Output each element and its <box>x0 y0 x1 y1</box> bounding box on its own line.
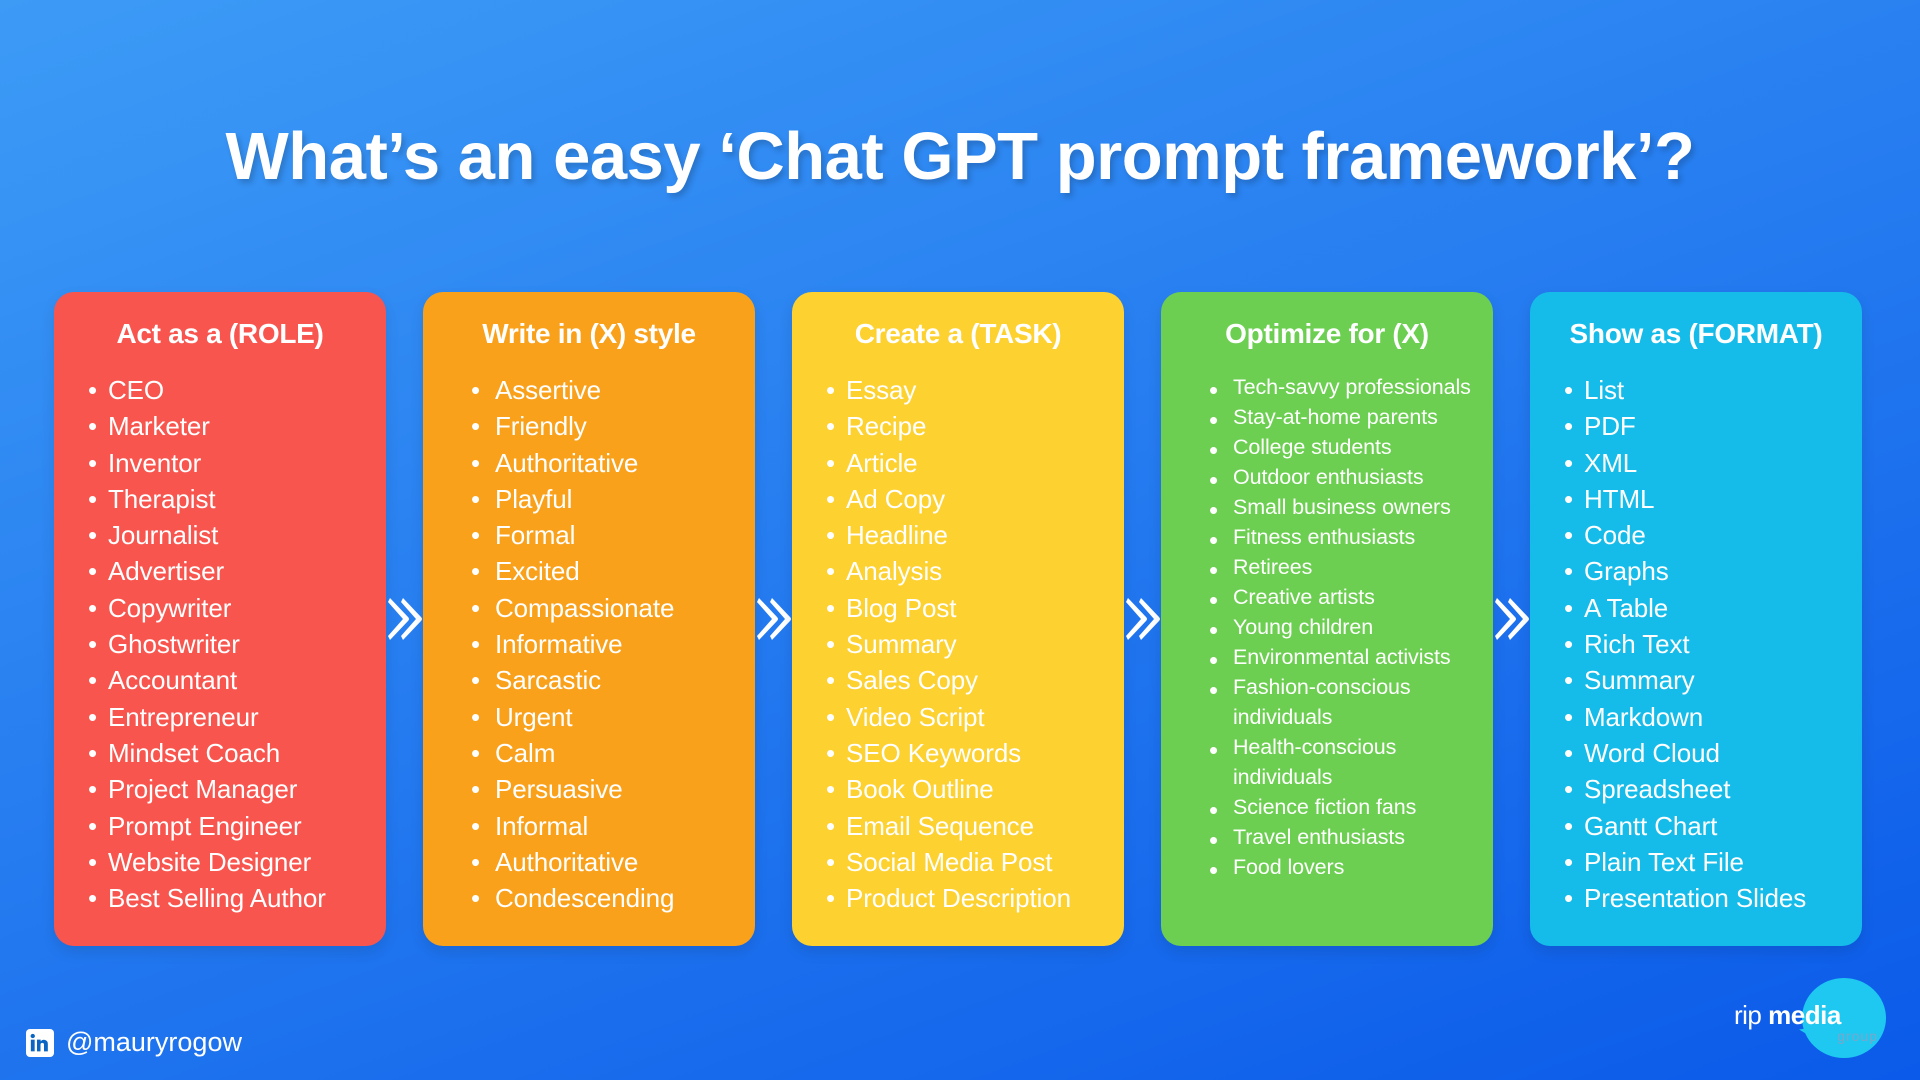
list-item: Rich Text <box>1564 626 1844 662</box>
list-item: Social Media Post <box>826 844 1106 880</box>
list-item: Copywriter <box>88 590 368 626</box>
list-item: Project Manager <box>88 771 368 807</box>
arrow-role-to-style <box>386 598 423 640</box>
double-chevron-right-icon <box>755 598 792 640</box>
list-item: Gantt Chart <box>1564 808 1844 844</box>
card-task-title: Create a (TASK) <box>810 318 1106 350</box>
list-item: Fitness enthusiasts <box>1209 522 1475 552</box>
list-item: Creative artists <box>1209 582 1475 612</box>
framework-card-strip: Act as a (ROLE) CEOMarketerInventorThera… <box>54 292 1866 946</box>
list-item: Urgent <box>471 699 737 735</box>
rip-media-group-logo: rip media group <box>1734 976 1886 1062</box>
card-style[interactable]: Write in (X) style AssertiveFriendlyAuth… <box>423 292 755 946</box>
list-item: Environmental activists <box>1209 642 1475 672</box>
list-item: Small business owners <box>1209 492 1475 522</box>
card-task-list: EssayRecipeArticleAd CopyHeadlineAnalysi… <box>810 372 1106 916</box>
list-item: Informative <box>471 626 737 662</box>
list-item: Playful <box>471 481 737 517</box>
list-item: Condescending <box>471 880 737 916</box>
card-format[interactable]: Show as (FORMAT) ListPDFXMLHTMLCodeGraph… <box>1530 292 1862 946</box>
logo-word-group: group <box>1837 1028 1878 1044</box>
card-role-title: Act as a (ROLE) <box>72 318 368 350</box>
list-item: Stay-at-home parents <box>1209 402 1475 432</box>
page-title-container: What’s an easy ‘Chat GPT prompt framewor… <box>0 118 1920 195</box>
list-item: Persuasive <box>471 771 737 807</box>
arrow-audience-to-format <box>1493 598 1530 640</box>
list-item: Summary <box>1564 662 1844 698</box>
list-item: Word Cloud <box>1564 735 1844 771</box>
list-item: Journalist <box>88 517 368 553</box>
list-item: Plain Text File <box>1564 844 1844 880</box>
footer-social[interactable]: @mauryrogow <box>26 1027 242 1058</box>
arrow-style-to-task <box>755 598 792 640</box>
list-item: Travel enthusiasts <box>1209 822 1475 852</box>
list-item: XML <box>1564 445 1844 481</box>
card-style-title: Write in (X) style <box>441 318 737 350</box>
card-format-title: Show as (FORMAT) <box>1548 318 1844 350</box>
list-item: Mindset Coach <box>88 735 368 771</box>
linkedin-handle: @mauryrogow <box>66 1027 242 1058</box>
card-audience-list: Tech-savvy professionalsStay-at-home par… <box>1179 372 1475 882</box>
list-item: Ghostwriter <box>88 626 368 662</box>
list-item: HTML <box>1564 481 1844 517</box>
list-item: Young children <box>1209 612 1475 642</box>
list-item: Accountant <box>88 662 368 698</box>
card-audience[interactable]: Optimize for (X) Tech-savvy professional… <box>1161 292 1493 946</box>
list-item: Email Sequence <box>826 808 1106 844</box>
list-item: Sales Copy <box>826 662 1106 698</box>
card-role-list: CEOMarketerInventorTherapistJournalistAd… <box>72 372 368 916</box>
logo-word-rip: rip <box>1734 1000 1761 1030</box>
card-style-list: AssertiveFriendlyAuthoritativePlayfulFor… <box>441 372 737 916</box>
list-item: Code <box>1564 517 1844 553</box>
list-item: Book Outline <box>826 771 1106 807</box>
arrow-task-to-audience <box>1124 598 1161 640</box>
list-item: Advertiser <box>88 553 368 589</box>
list-item: Sarcastic <box>471 662 737 698</box>
list-item: Therapist <box>88 481 368 517</box>
list-item: A Table <box>1564 590 1844 626</box>
list-item: College students <box>1209 432 1475 462</box>
list-item: Graphs <box>1564 553 1844 589</box>
list-item: PDF <box>1564 408 1844 444</box>
list-item: Authoritative <box>471 445 737 481</box>
list-item: Science fiction fans <box>1209 792 1475 822</box>
list-item: Video Script <box>826 699 1106 735</box>
double-chevron-right-icon <box>386 598 423 640</box>
list-item: Food lovers <box>1209 852 1475 882</box>
list-item: Article <box>826 445 1106 481</box>
list-item: Essay <box>826 372 1106 408</box>
list-item: Blog Post <box>826 590 1106 626</box>
linkedin-icon[interactable] <box>26 1029 54 1057</box>
list-item: Retirees <box>1209 552 1475 582</box>
logo-word-media: media <box>1768 1000 1841 1030</box>
logo-wordmark: rip media <box>1734 1000 1886 1031</box>
list-item: Product Description <box>826 880 1106 916</box>
list-item: Tech-savvy professionals <box>1209 372 1475 402</box>
list-item: CEO <box>88 372 368 408</box>
double-chevron-right-icon <box>1493 598 1530 640</box>
list-item: Website Designer <box>88 844 368 880</box>
list-item: Analysis <box>826 553 1106 589</box>
list-item: Entrepreneur <box>88 699 368 735</box>
list-item: Assertive <box>471 372 737 408</box>
list-item: Markdown <box>1564 699 1844 735</box>
card-task[interactable]: Create a (TASK) EssayRecipeArticleAd Cop… <box>792 292 1124 946</box>
card-audience-title: Optimize for (X) <box>1179 318 1475 350</box>
list-item: Calm <box>471 735 737 771</box>
list-item: Authoritative <box>471 844 737 880</box>
list-item: Compassionate <box>471 590 737 626</box>
list-item: List <box>1564 372 1844 408</box>
list-item: SEO Keywords <box>826 735 1106 771</box>
list-item: Presentation Slides <box>1564 880 1844 916</box>
list-item: Health-conscious individuals <box>1209 732 1475 792</box>
page-title: What’s an easy ‘Chat GPT prompt framewor… <box>226 118 1695 195</box>
list-item: Fashion-conscious individuals <box>1209 672 1475 732</box>
list-item: Ad Copy <box>826 481 1106 517</box>
list-item: Informal <box>471 808 737 844</box>
card-role[interactable]: Act as a (ROLE) CEOMarketerInventorThera… <box>54 292 386 946</box>
list-item: Headline <box>826 517 1106 553</box>
double-chevron-right-icon <box>1124 598 1161 640</box>
list-item: Friendly <box>471 408 737 444</box>
list-item: Formal <box>471 517 737 553</box>
list-item: Best Selling Author <box>88 880 368 916</box>
card-format-list: ListPDFXMLHTMLCodeGraphsA TableRich Text… <box>1548 372 1844 916</box>
list-item: Excited <box>471 553 737 589</box>
list-item: Recipe <box>826 408 1106 444</box>
list-item: Summary <box>826 626 1106 662</box>
list-item: Marketer <box>88 408 368 444</box>
list-item: Spreadsheet <box>1564 771 1844 807</box>
list-item: Outdoor enthusiasts <box>1209 462 1475 492</box>
list-item: Prompt Engineer <box>88 808 368 844</box>
list-item: Inventor <box>88 445 368 481</box>
